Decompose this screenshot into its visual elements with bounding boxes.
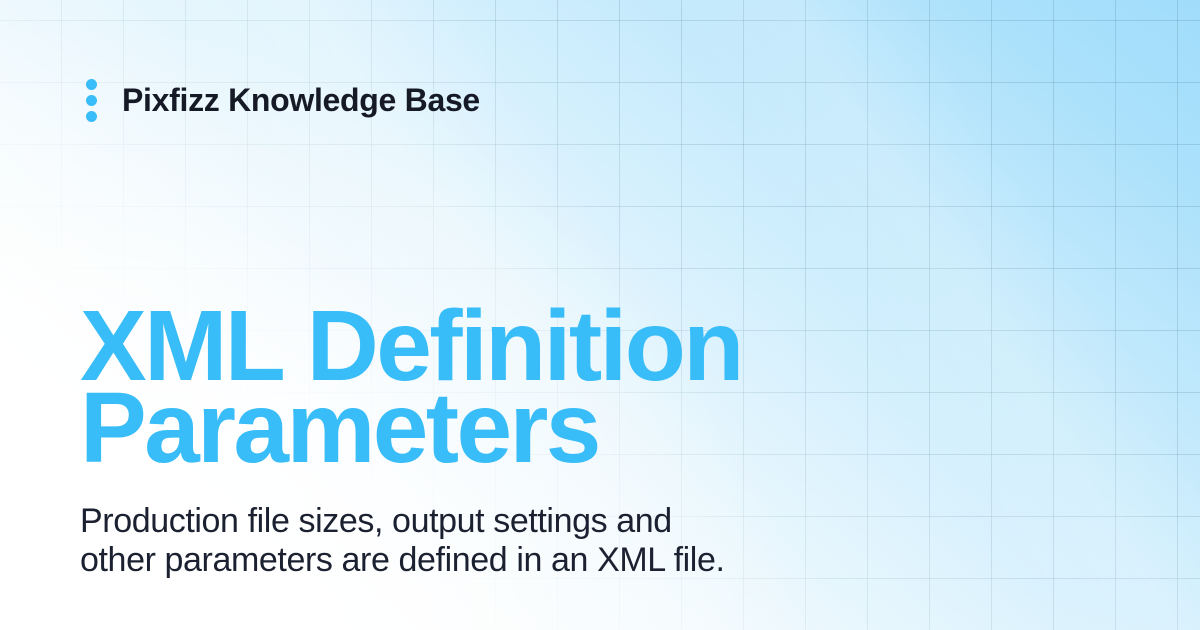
brand-dot-3 <box>86 111 97 122</box>
brand-dot-1 <box>86 79 97 90</box>
brand-name: Pixfizz Knowledge Base <box>122 84 480 116</box>
brand-dot-2 <box>86 95 97 106</box>
banner-content: Pixfizz Knowledge Base XML Definition Pa… <box>0 0 1200 630</box>
brand-lockup: Pixfizz Knowledge Base <box>80 76 480 124</box>
page-title: XML Definition Parameters <box>80 305 840 469</box>
page-subtitle-line-2: other parameters are defined in an XML f… <box>80 541 940 580</box>
three-dots-vertical-icon <box>80 78 102 122</box>
page-subtitle-line-1: Production file sizes, output settings a… <box>80 502 940 541</box>
knowledge-base-banner: Pixfizz Knowledge Base XML Definition Pa… <box>0 0 1200 630</box>
page-subtitle: Production file sizes, output settings a… <box>80 502 940 580</box>
